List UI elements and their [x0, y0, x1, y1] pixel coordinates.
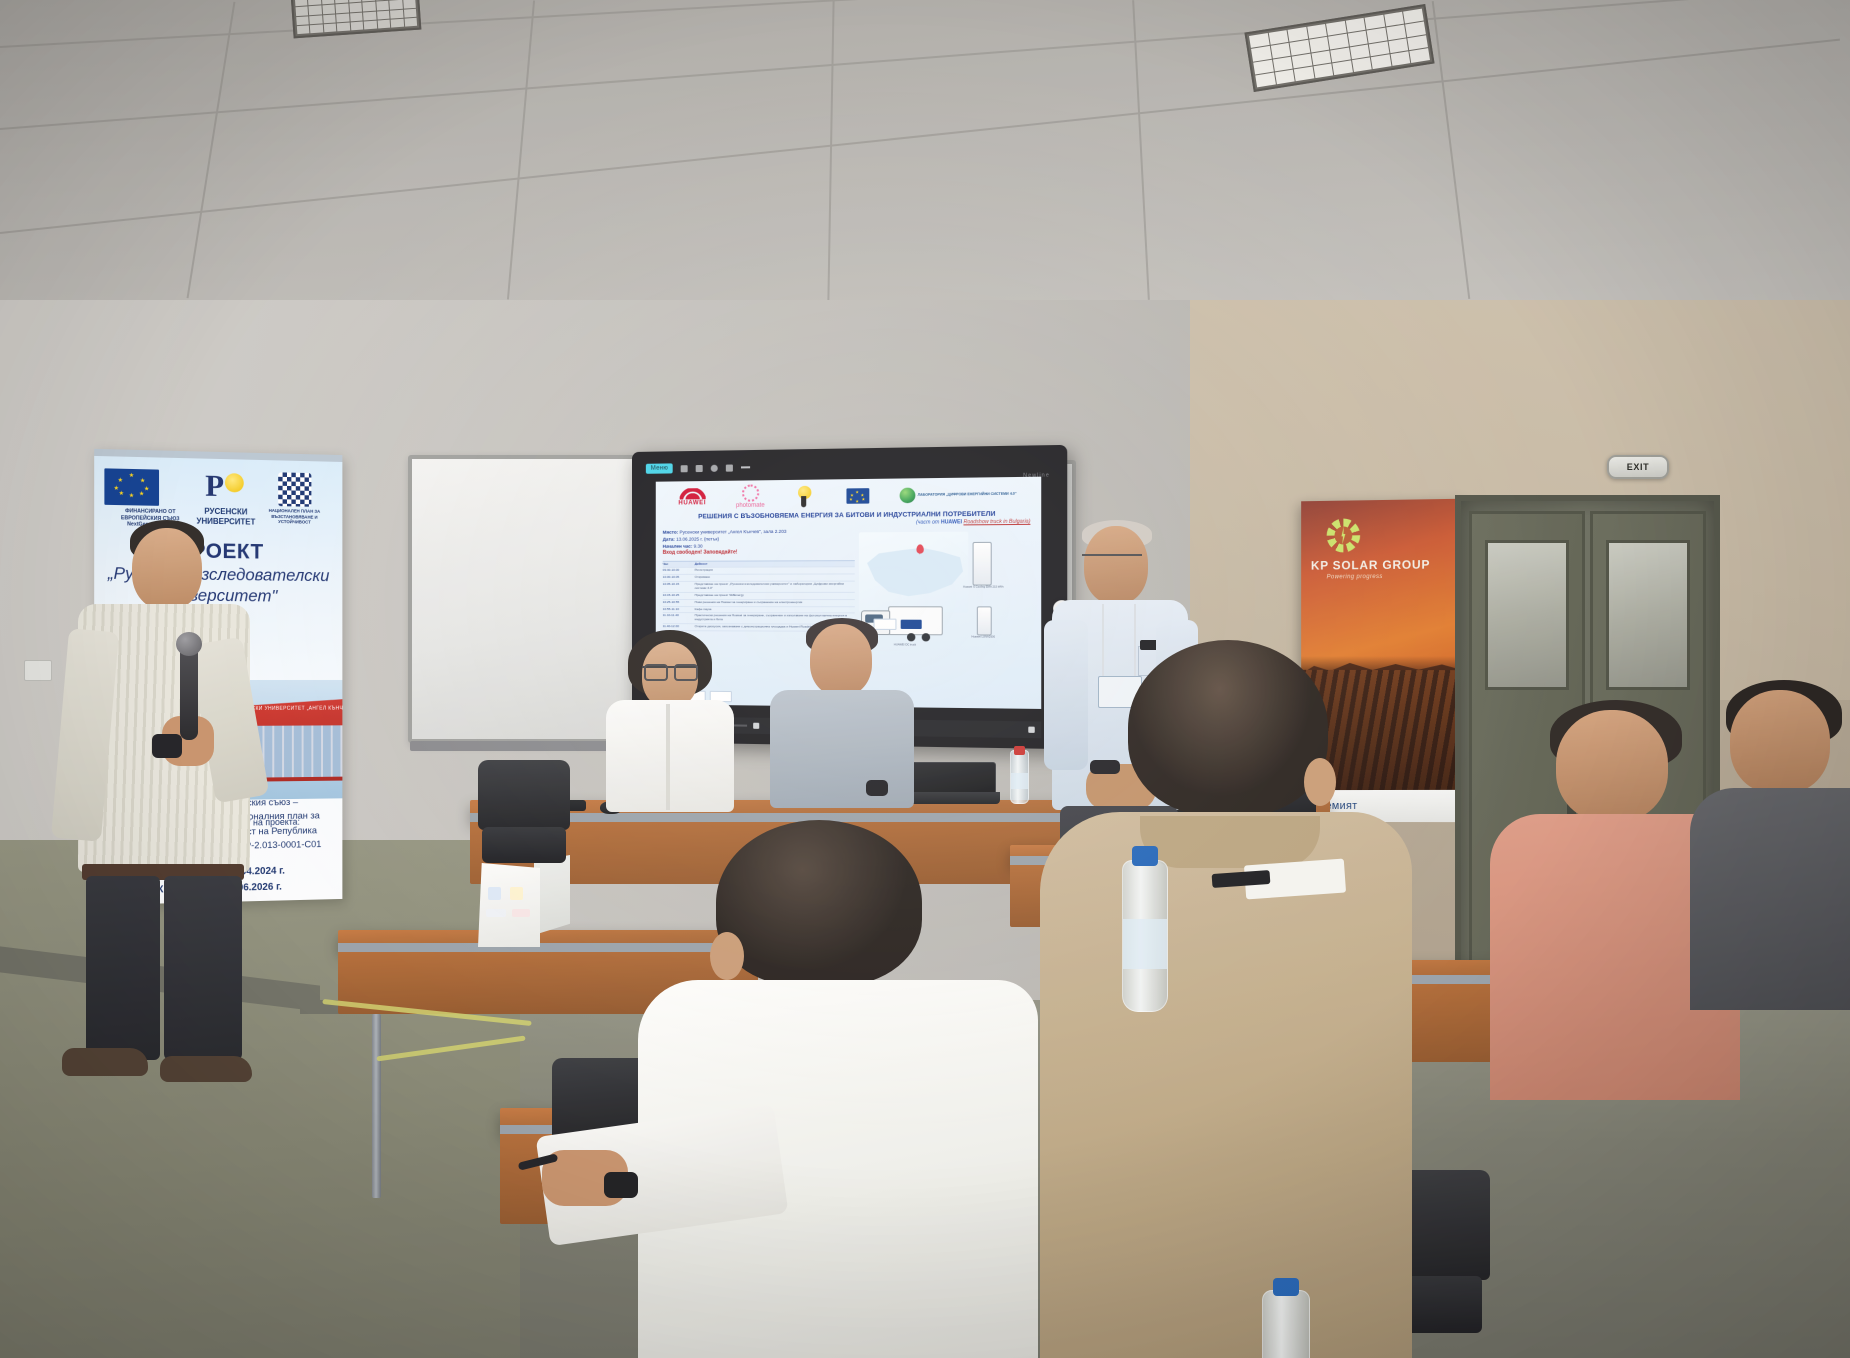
kp-solar-tagline: Powering progress [1327, 574, 1383, 580]
eu-flag-logo: ★ ★ ★ ★ ★ ★ ★ ★ [104, 468, 159, 506]
ceiling-grid [0, 0, 1850, 300]
subline-italic: Roadshow truck in Bulgaria) [963, 519, 1030, 526]
exit-sign: EXIT [1607, 455, 1669, 479]
subline-brand: HUAWEI [941, 520, 962, 526]
hair [716, 820, 922, 986]
leg-left [86, 876, 160, 1060]
water-bottle[interactable] [1010, 750, 1029, 804]
glasses-lens-left [644, 664, 668, 681]
eraser-icon[interactable] [696, 464, 703, 471]
bag-logo-nprr [486, 909, 506, 917]
huawei-fan-icon [679, 488, 705, 499]
torso [770, 690, 914, 808]
lab-logo: ЛАБОРАТОРИЯ „ЦИФРОВИ ЕНЕРГИЙНИ СИСТЕМИ 4… [900, 486, 1017, 503]
eu-flag-logo: ★ ★ ★ ★ ★ ★ [846, 488, 869, 504]
torso [606, 700, 734, 812]
door-window [1485, 540, 1569, 690]
panelist-seated-right [770, 618, 920, 808]
agenda-row: 10.15-10.25Представяне на проект SMEnerg… [663, 593, 855, 600]
office-chair[interactable] [478, 760, 570, 880]
head [1730, 690, 1830, 794]
globe-icon [900, 488, 916, 504]
bag-logo-eu [488, 887, 501, 900]
shirt-placket [666, 704, 670, 810]
bag-logo-partner [512, 909, 530, 917]
power-socket[interactable] [24, 660, 52, 681]
bulgaria-map [859, 532, 968, 613]
minimize-icon[interactable] [741, 466, 750, 468]
nprr-logo: НАЦИОНАЛЕН ПЛАН ЗА ВЪЗСТАНОВЯВАНЕ И УСТО… [256, 472, 333, 526]
head [810, 624, 872, 696]
inverter-image [977, 607, 992, 636]
attendee-far-right [1690, 680, 1850, 1010]
bulgaria-outline [865, 547, 964, 601]
table-leg [372, 1014, 381, 1198]
ear [1304, 758, 1336, 806]
lab-logo-label: ЛАБОРАТОРИЯ „ЦИФРОВИ ЕНЕРГИЙНИ СИСТЕМИ 4… [918, 492, 1017, 498]
suspended-ceiling [0, 0, 1850, 300]
slide-left-column: Място: Русенски университет „Ангел Кънче… [656, 529, 855, 632]
photomate-logo: photomate [736, 484, 765, 510]
free-entry-text: Вход свободен! Заповядайте! [663, 549, 855, 557]
attendee-front-left [638, 820, 1058, 1358]
callout-label: Huawei S Cooling EMA 215 kWh [960, 586, 1007, 589]
wristwatch [152, 734, 182, 758]
fullscreen-icon[interactable] [1028, 727, 1034, 733]
wristwatch [866, 780, 888, 796]
collar [1140, 816, 1320, 868]
subline-prefix: (част от [916, 520, 941, 526]
glasses-lens-right [674, 664, 698, 681]
panelist-seated-left [600, 630, 740, 810]
ru-monogram-icon: Р [205, 471, 247, 506]
water-bottle[interactable] [1122, 860, 1168, 1012]
head [1556, 710, 1668, 822]
slide-logo-row: HUAWEI photomate ★ ★ ★ ★ ★ ★ ЛАБОРА [656, 477, 1041, 512]
photomate-logo-label: photomate [736, 503, 765, 509]
ruse-university-logo: Р РУСЕНСКИ УНИВЕРСИТЕТ [196, 470, 256, 526]
kp-solar-company-name: KP SOLAR GROUP [1311, 558, 1430, 573]
glasses-icon [1082, 554, 1142, 568]
agenda-row: 10.05-10.15Представяне на проект „Русенс… [663, 582, 855, 593]
shoe-right [160, 1056, 252, 1082]
water-bottle[interactable] [1262, 1290, 1310, 1358]
sun-icon [742, 484, 759, 501]
bulb-logo [795, 485, 816, 508]
huawei-logo-label: HUAWEI [678, 500, 706, 506]
pen-icon[interactable] [681, 465, 688, 472]
callout-label: Huawei LUNA2000 [960, 636, 1007, 639]
microphone-head-icon [176, 632, 202, 656]
door-window [1606, 540, 1690, 690]
microphone[interactable] [180, 644, 198, 740]
hair [1128, 640, 1328, 816]
zoom-in-icon[interactable] [753, 723, 759, 729]
display-toolbar[interactable]: Меню [646, 453, 1052, 477]
kp-solar-gear-icon [1327, 518, 1361, 552]
select-icon[interactable] [726, 464, 733, 471]
torso [1690, 788, 1850, 1010]
slide-meta: Място: Русенски университет „Ангел Кънче… [663, 529, 855, 558]
shape-icon[interactable] [711, 464, 718, 471]
attendee-front-right [1040, 640, 1420, 1358]
battery-cabinet-image [973, 542, 992, 586]
bag-logo-ru [510, 887, 523, 900]
shoe-left [62, 1048, 148, 1076]
head [132, 528, 202, 610]
huawei-logo: HUAWEI [678, 488, 706, 507]
slide-body: Място: Русенски университет „Ангел Кънче… [656, 527, 1041, 632]
conference-room-photo: Меню Newline HUAWEI photomate ★ [0, 0, 1850, 1358]
ear [710, 932, 744, 980]
speaker-with-microphone [52, 520, 272, 1060]
slide-right-column: Huawei S Cooling EMA 215 kWh Huawei LUNA… [855, 527, 1041, 632]
leg-right [164, 876, 242, 1060]
menu-chip[interactable]: Меню [646, 463, 673, 473]
torso [1040, 812, 1412, 1358]
nprr-pattern-icon [278, 472, 311, 506]
wristwatch [604, 1172, 638, 1198]
